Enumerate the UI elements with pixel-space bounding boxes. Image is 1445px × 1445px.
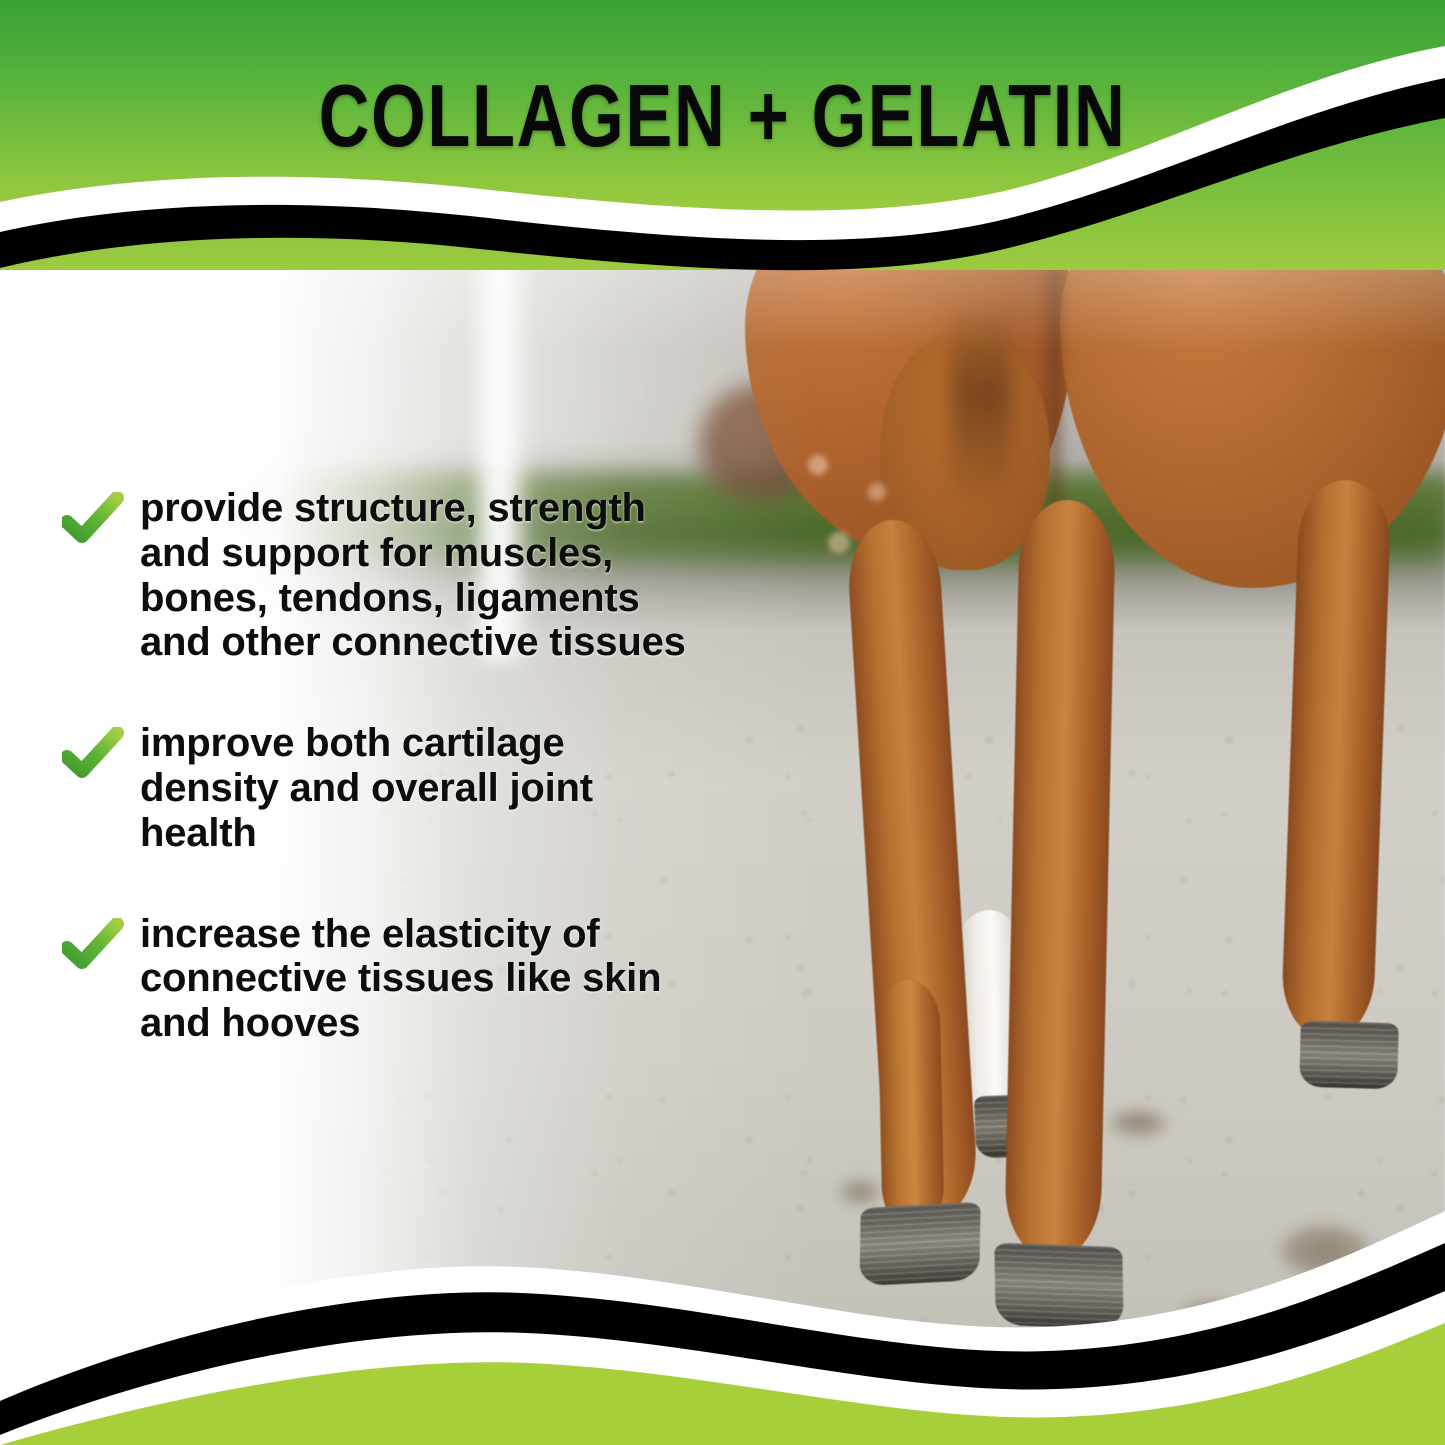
infographic-poster: COLLAGEN + GELATIN provide structure, st… bbox=[0, 0, 1445, 1445]
list-item-label: improve both cartilage density and overa… bbox=[140, 721, 593, 855]
check-mark-icon bbox=[62, 918, 124, 972]
page-title: COLLAGEN + GELATIN bbox=[145, 72, 1301, 160]
list-item: increase the elasticity of connective ti… bbox=[62, 912, 742, 1046]
list-item-label: increase the elasticity of connective ti… bbox=[140, 912, 661, 1046]
benefits-list: provide structure, strength and support … bbox=[62, 486, 742, 1046]
check-mark-icon bbox=[62, 727, 124, 781]
check-mark-icon bbox=[62, 492, 124, 546]
list-item: improve both cartilage density and overa… bbox=[62, 721, 742, 855]
horse-leg-far-right bbox=[1280, 478, 1391, 1041]
list-item-label: provide structure, strength and support … bbox=[140, 486, 686, 665]
footer-waves bbox=[0, 1115, 1445, 1445]
list-item: provide structure, strength and support … bbox=[62, 486, 742, 665]
horse-hoof-far-right bbox=[1299, 1021, 1399, 1090]
header-green-wave bbox=[0, 0, 1445, 420]
